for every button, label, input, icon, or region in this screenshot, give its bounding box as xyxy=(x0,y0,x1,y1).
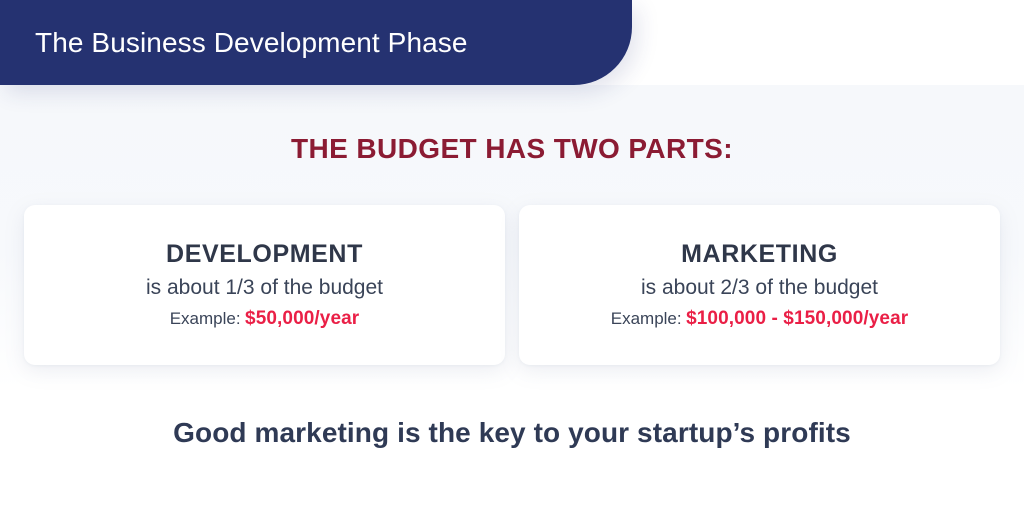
card-example-marketing: Example: $100,000 - $150,000/year xyxy=(611,308,908,330)
footer-tagline: Good marketing is the key to your startu… xyxy=(0,417,1024,449)
header-banner: The Business Development Phase xyxy=(0,0,632,85)
card-title-marketing: MARKETING xyxy=(681,240,838,269)
section-heading: THE BUDGET HAS TWO PARTS: xyxy=(0,133,1024,165)
card-subtitle-development: is about 1/3 of the budget xyxy=(146,276,383,300)
card-example-development: Example: $50,000/year xyxy=(170,308,360,330)
example-label-development: Example: xyxy=(170,309,241,328)
budget-card-development: DEVELOPMENT is about 1/3 of the budget E… xyxy=(24,205,505,365)
example-value-development: $50,000/year xyxy=(245,308,359,329)
slide-canvas: The Business Development Phase THE BUDGE… xyxy=(0,0,1024,523)
page-title: The Business Development Phase xyxy=(35,27,468,59)
card-subtitle-marketing: is about 2/3 of the budget xyxy=(641,276,878,300)
card-title-development: DEVELOPMENT xyxy=(166,240,363,269)
example-value-marketing: $100,000 - $150,000/year xyxy=(686,308,908,329)
budget-card-marketing: MARKETING is about 2/3 of the budget Exa… xyxy=(519,205,1000,365)
example-label-marketing: Example: xyxy=(611,309,682,328)
budget-cards-row: DEVELOPMENT is about 1/3 of the budget E… xyxy=(24,205,1000,365)
